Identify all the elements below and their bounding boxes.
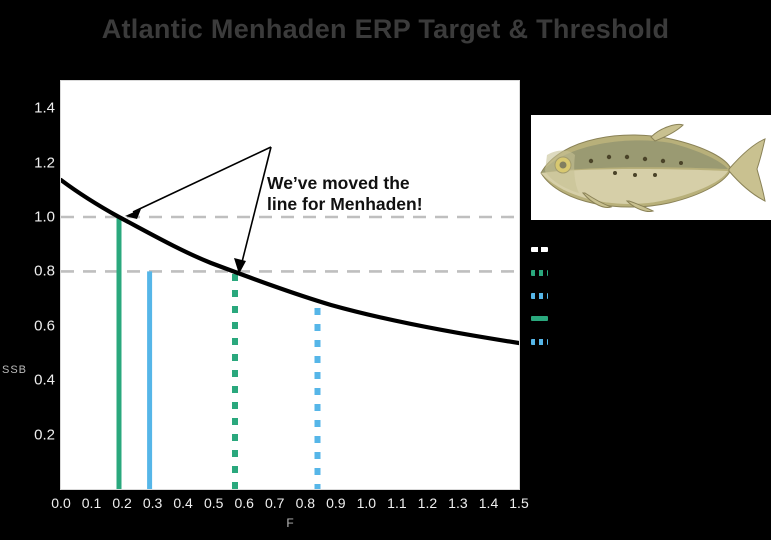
y-tick-label: 1.0 <box>34 209 55 226</box>
annotation-arrows <box>125 147 271 274</box>
legend-item: F Target <box>531 307 651 330</box>
legend-item: Reference <box>531 238 651 261</box>
x-tick-label: 0.2 <box>112 495 131 511</box>
x-tick-label: 1.1 <box>387 495 406 511</box>
x-tick-label: 1.5 <box>509 495 528 511</box>
chart-plot-area: 1.0 1.2 1.4 0.8 0.6 0.4 0.2 0.0 0.1 0.2 … <box>60 80 520 490</box>
chart-svg <box>61 81 519 489</box>
y-tick-label: 0.8 <box>34 263 55 280</box>
x-tick-label: 0.5 <box>204 495 223 511</box>
x-tick-label: 0.7 <box>265 495 284 511</box>
y-tick-label: 0.6 <box>34 317 55 334</box>
legend-swatch-ssb-target-icon <box>531 270 548 276</box>
x-tick-label: 0.4 <box>173 495 192 511</box>
page-title: Atlantic Menhaden ERP Target & Threshold <box>0 14 771 45</box>
x-tick-label: 1.2 <box>418 495 437 511</box>
legend-swatch-ssb-threshold-icon <box>531 293 548 299</box>
y-axis-title: SSB <box>2 364 27 376</box>
slide-root: Atlantic Menhaden ERP Target & Threshold… <box>0 0 771 540</box>
y-tick-label: 1.2 <box>34 154 55 171</box>
y-tick-label: 1.4 <box>34 100 55 117</box>
chart-canvas <box>61 81 519 489</box>
legend-label: F Threshold <box>554 337 602 347</box>
legend-item: SSB Target <box>531 261 651 284</box>
x-tick-label: 0.3 <box>143 495 162 511</box>
legend-label: SSB Threshold <box>554 291 614 301</box>
legend-label: SSB Target <box>554 268 599 278</box>
legend-item: SSB Threshold <box>531 284 651 307</box>
x-tick-label: 0.1 <box>82 495 101 511</box>
legend-item: F Threshold <box>531 330 651 353</box>
x-tick-label: 0.6 <box>234 495 253 511</box>
annotation-text: We’ve moved the line for Menhaden! <box>267 173 482 216</box>
x-axis-title: F <box>60 516 520 530</box>
legend-swatch-f-target-icon <box>531 316 548 321</box>
x-tick-label: 1.4 <box>479 495 498 511</box>
menhaden-photo <box>531 115 771 220</box>
legend-swatch-reference-icon <box>531 247 548 252</box>
legend-label: Reference <box>554 245 596 255</box>
x-tick-label: 1.0 <box>357 495 376 511</box>
y-tick-label: 0.2 <box>34 426 55 443</box>
legend-swatch-f-threshold-icon <box>531 339 548 345</box>
y-tick-label: 0.4 <box>34 372 55 389</box>
x-tick-label: 0.0 <box>51 495 70 511</box>
x-tick-label: 1.3 <box>448 495 467 511</box>
legend-label: F Target <box>554 314 587 324</box>
x-tick-label: 0.9 <box>326 495 345 511</box>
chart-legend: Reference SSB Target SSB Threshold F Tar… <box>531 238 651 353</box>
x-tick-label: 0.8 <box>296 495 315 511</box>
